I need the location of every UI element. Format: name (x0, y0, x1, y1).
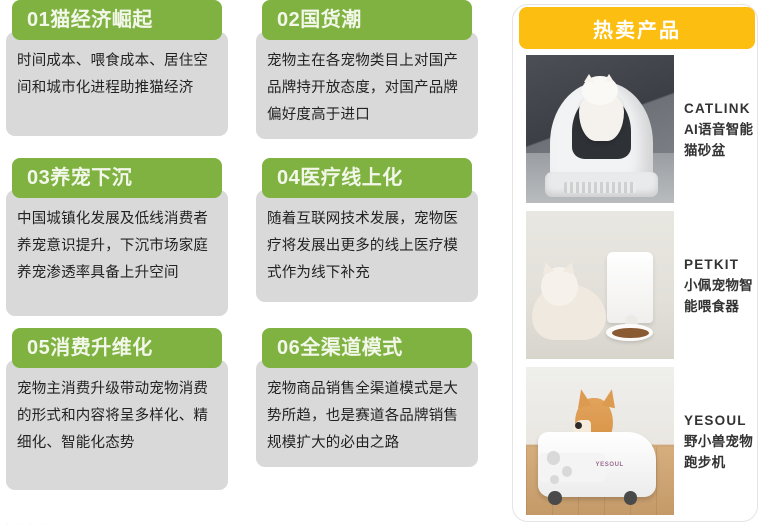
trend-card-body: 随着互联网技术发展，宠物医疗将发展出更多的线上医疗模式作为线下补充 (256, 190, 478, 302)
yesoul-logo: YESOUL (596, 462, 624, 468)
trend-card-body: 时间成本、喂食成本、居住空间和城市化进程助推猫经济 (6, 32, 228, 136)
hot-products-title: 热卖产品 (593, 14, 681, 43)
hot-products-list: CATLINK AI语音智能猫砂盆 (513, 53, 757, 521)
trend-card-description: 宠物主在各宠物类目上对国产品牌持开放态度，对国产品牌偏好度高于进口 (267, 48, 467, 129)
hot-products-header: 热卖产品 (519, 7, 755, 49)
product-item-yesoul[interactable]: YESOUL YESOUL 野小兽宠物跑步机 (526, 365, 757, 517)
trend-card-title: 05消费升维化 (12, 338, 153, 358)
trend-card-title: 02国货潮 (262, 10, 362, 30)
product-image-petkit (526, 211, 674, 359)
trend-card-description: 时间成本、喂食成本、居住空间和城市化进程助推猫经济 (17, 48, 217, 102)
product-model: AI语音智能猫砂盆 (684, 122, 753, 158)
trend-card-description: 随着互联网技术发展，宠物医疗将发展出更多的线上医疗模式作为线下补充 (267, 206, 467, 287)
product-item-catlink[interactable]: CATLINK AI语音智能猫砂盆 (526, 53, 757, 205)
trend-card-title: 04医疗线上化 (262, 168, 403, 188)
trend-card-title: 01猫经济崛起 (12, 10, 153, 30)
trend-card-04[interactable]: 04医疗线上化 随着互联网技术发展，宠物医疗将发展出更多的线上医疗模式作为线下补… (256, 158, 488, 328)
trend-card-body: 中国城镇化发展及低线消费者养宠意识提升，下沉市场家庭养宠渗透率具备上升空间 (6, 190, 228, 316)
trend-card-description: 宠物主消费升级带动宠物消费的形式和内容将呈多样化、精细化、智能化态势 (17, 376, 217, 457)
trend-card-06[interactable]: 06全渠道模式 宠物商品销售全渠道模式是大势所趋，也是赛道各品牌销售规模扩大的必… (256, 328, 488, 503)
trend-card-header: 05消费升维化 (12, 328, 222, 368)
trend-card-title: 03养宠下沉 (12, 168, 132, 188)
product-image-yesoul: YESOUL (526, 367, 674, 515)
product-brand: PETKIT (684, 254, 757, 275)
trend-card-body: 宠物商品销售全渠道模式是大势所趋，也是赛道各品牌销售规模扩大的必由之路 (256, 360, 478, 467)
trend-card-body: 宠物主消费升级带动宠物消费的形式和内容将呈多样化、精细化、智能化态势 (6, 360, 228, 490)
trend-card-description: 中国城镇化发展及低线消费者养宠意识提升，下沉市场家庭养宠渗透率具备上升空间 (17, 206, 217, 287)
product-model: 野小兽宠物跑步机 (684, 434, 753, 470)
faint-watermark: · · · ·· (6, 518, 53, 528)
trend-card-02[interactable]: 02国货潮 宠物主在各宠物类目上对国产品牌持开放态度，对国产品牌偏好度高于进口 (256, 0, 488, 158)
product-label-petkit: PETKIT 小佩宠物智能喂食器 (674, 254, 757, 317)
infographic-page: 01猫经济崛起 时间成本、喂食成本、居住空间和城市化进程助推猫经济 02国货潮 … (0, 0, 776, 531)
product-brand: CATLINK (684, 98, 757, 119)
product-item-petkit[interactable]: PETKIT 小佩宠物智能喂食器 (526, 209, 757, 361)
product-image-catlink (526, 55, 674, 203)
trend-card-header: 06全渠道模式 (262, 328, 472, 368)
trend-card-grid: 01猫经济崛起 时间成本、喂食成本、居住空间和城市化进程助推猫经济 02国货潮 … (0, 0, 500, 531)
product-label-yesoul: YESOUL 野小兽宠物跑步机 (674, 410, 757, 473)
trend-card-header: 02国货潮 (262, 0, 472, 40)
trend-card-05[interactable]: 05消费升维化 宠物主消费升级带动宠物消费的形式和内容将呈多样化、精细化、智能化… (6, 328, 238, 503)
trend-card-header: 03养宠下沉 (12, 158, 222, 198)
trend-card-01[interactable]: 01猫经济崛起 时间成本、喂食成本、居住空间和城市化进程助推猫经济 (6, 0, 238, 158)
product-label-catlink: CATLINK AI语音智能猫砂盆 (674, 98, 757, 161)
product-brand: YESOUL (684, 410, 757, 431)
product-model: 小佩宠物智能喂食器 (684, 278, 753, 314)
trend-card-03[interactable]: 03养宠下沉 中国城镇化发展及低线消费者养宠意识提升，下沉市场家庭养宠渗透率具备… (6, 158, 238, 328)
trend-card-body: 宠物主在各宠物类目上对国产品牌持开放态度，对国产品牌偏好度高于进口 (256, 32, 478, 139)
trend-card-title: 06全渠道模式 (262, 338, 403, 358)
trend-card-description: 宠物商品销售全渠道模式是大势所趋，也是赛道各品牌销售规模扩大的必由之路 (267, 376, 467, 457)
hot-products-panel: 热卖产品 (512, 4, 758, 522)
trend-card-header: 04医疗线上化 (262, 158, 472, 198)
trend-card-header: 01猫经济崛起 (12, 0, 222, 40)
